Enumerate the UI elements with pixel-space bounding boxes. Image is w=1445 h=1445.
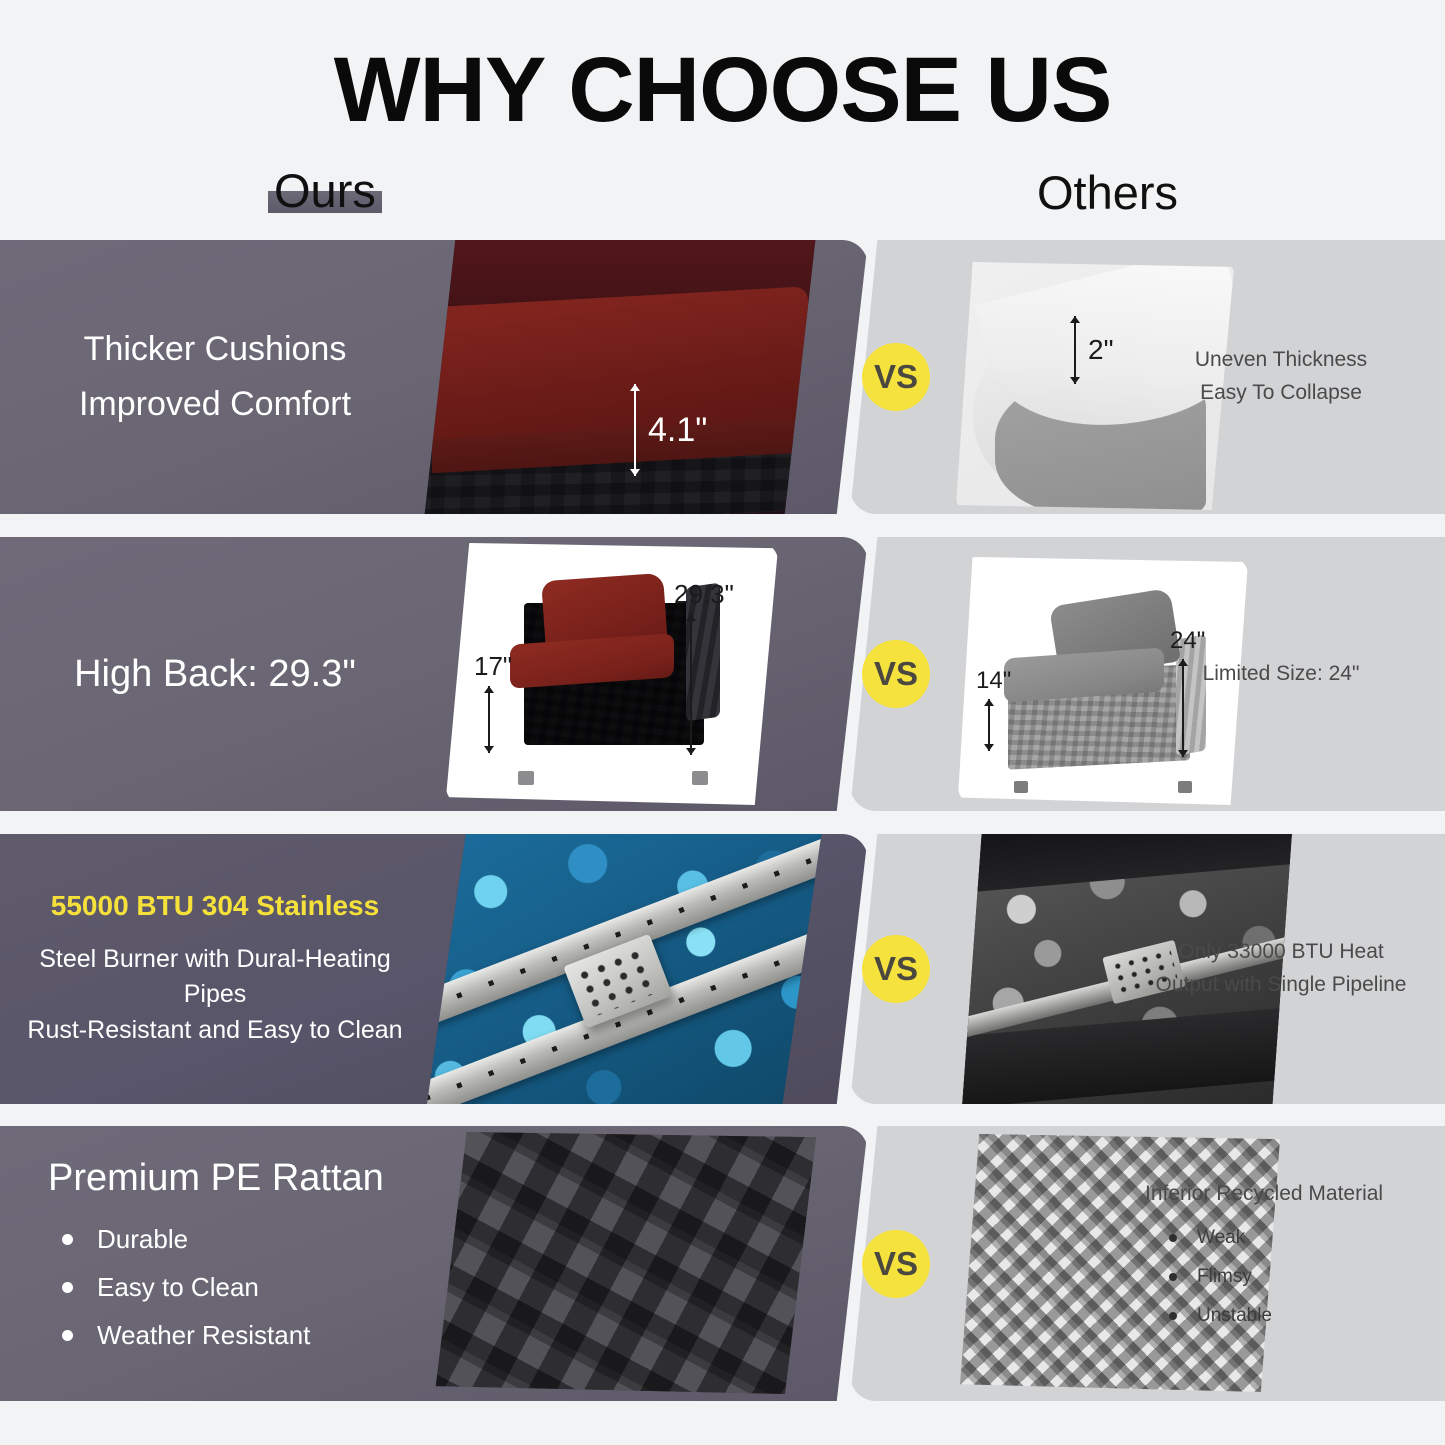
dimension-arrow-icon [634, 384, 636, 476]
comparison-infographic: WHY CHOOSE US Ours Others Thicker Cushio… [0, 0, 1445, 1445]
others-rattan-headline: Inferior Recycled Material [1145, 1182, 1431, 1206]
list-item: Durable [48, 1226, 310, 1252]
ours-cushions-line1: Thicker Cushions [84, 322, 347, 377]
ours-label: Ours [274, 164, 376, 217]
others-text-cushions: Uneven Thickness Easy To Collapse [1131, 240, 1431, 514]
dimension-arrow-icon [488, 686, 490, 753]
list-item: Easy to Clean [48, 1274, 310, 1300]
others-text-high-back: Limited Size: 24" [1131, 537, 1431, 811]
ours-text-rattan: Premium PE Rattan Durable Easy to Clean … [0, 1126, 440, 1401]
ours-panel-burner: 55000 BTU 304 Stainless Steel Burner wit… [0, 834, 868, 1104]
others-seat-height-dimension: 14" [976, 667, 1011, 751]
comparison-row-rattan: Premium PE Rattan Durable Easy to Clean … [0, 1126, 1445, 1401]
list-item: Weak [1145, 1228, 1431, 1247]
others-rattan-bullet-3: Unstable [1197, 1306, 1272, 1325]
others-cushions-line2: Easy To Collapse [1131, 377, 1431, 410]
bullet-dot-icon [62, 1330, 73, 1341]
ours-rattan-bullet-3: Weather Resistant [97, 1322, 310, 1348]
list-item: Flimsy [1145, 1267, 1431, 1286]
others-text-burner: Only 33000 BTU Heat Output with Single P… [1131, 834, 1431, 1104]
sofa-leg-right [692, 771, 708, 785]
cushion-seat-top [424, 286, 808, 439]
ours-column-heading: Ours [268, 166, 382, 215]
sofa-leg-left [1014, 781, 1028, 793]
list-item: Unstable [1145, 1306, 1431, 1325]
ours-seat-height-label: 17" [474, 651, 512, 682]
comparison-row-high-back: High Back: 29.3" 17" 29.3" [0, 537, 1445, 811]
sofa-leg-left [518, 771, 534, 785]
ours-cushions-line2: Improved Comfort [79, 377, 351, 432]
others-column-heading: Others [1037, 168, 1178, 217]
bullet-dot-icon [62, 1282, 73, 1293]
vs-badge-rattan: VS [862, 1230, 930, 1298]
ours-text-burner: 55000 BTU 304 Stainless Steel Burner wit… [0, 834, 430, 1104]
ours-burner-line2: Rust-Resistant and Easy to Clean [27, 1013, 402, 1049]
others-high-back-line1: Limited Size: 24" [1131, 658, 1431, 691]
vs-badge-cushions: VS [862, 343, 930, 411]
others-foam-dimension: 2" [1074, 316, 1114, 384]
others-rattan-bullet-2: Flimsy [1197, 1267, 1252, 1286]
others-panel-rattan: Inferior Recycled Material Weak Flimsy U… [850, 1126, 1445, 1401]
others-seat-height-label: 14" [976, 667, 1011, 695]
ours-rattan-bullet-1: Durable [97, 1226, 188, 1252]
others-text-rattan: Inferior Recycled Material Weak Flimsy U… [1131, 1126, 1431, 1401]
bullet-dot-icon [1169, 1312, 1177, 1320]
ours-panel-high-back: High Back: 29.3" 17" 29.3" [0, 537, 868, 811]
ours-sofa-photo: 17" 29.3" [446, 543, 778, 805]
ours-cushion-dimension-label: 4.1" [648, 411, 707, 450]
others-panel-burner: Only 33000 BTU Heat Output with Single P… [850, 834, 1445, 1104]
others-burner-line2: Output with Single Pipeline [1131, 969, 1431, 1002]
others-rattan-bullet-1: Weak [1197, 1228, 1245, 1247]
others-rattan-bullet-list: Weak Flimsy Unstable [1145, 1228, 1431, 1345]
bullet-dot-icon [1169, 1234, 1177, 1242]
ours-rattan-bullet-list: Durable Easy to Clean Weather Resistant [48, 1226, 310, 1370]
others-cushions-line1: Uneven Thickness [1131, 344, 1431, 377]
ours-cushion-dimension: 4.1" [634, 384, 707, 476]
comparison-row-cushions: Thicker Cushions Improved Comfort 4.1" V… [0, 240, 1445, 514]
ours-firepit-photo [418, 834, 822, 1104]
ours-rattan-bullet-2: Easy to Clean [97, 1274, 259, 1300]
ours-cushion-photo: 4.1" [416, 240, 816, 514]
others-foam-dimension-label: 2" [1088, 334, 1114, 366]
others-panel-high-back: 14" 24" Limited Size: 24" [850, 537, 1445, 811]
bullet-dot-icon [1169, 1273, 1177, 1281]
ours-high-back-headline: High Back: 29.3" [74, 653, 356, 696]
dimension-arrow-icon [690, 614, 692, 755]
ours-burner-line1: Steel Burner with Dural-Heating Pipes [14, 942, 416, 1013]
vs-badge-high-back: VS [862, 640, 930, 708]
ours-panel-cushions: Thicker Cushions Improved Comfort 4.1" [0, 240, 868, 514]
ours-seat-height-dimension: 17" [474, 651, 512, 753]
comparison-row-burner: 55000 BTU 304 Stainless Steel Burner wit… [0, 834, 1445, 1104]
bullet-dot-icon [62, 1234, 73, 1245]
list-item: Weather Resistant [48, 1322, 310, 1348]
dimension-arrow-icon [988, 699, 990, 751]
others-burner-line1: Only 33000 BTU Heat [1131, 936, 1431, 969]
dark-woven-weave [428, 1132, 816, 1394]
column-headings: Ours Others [0, 166, 1445, 236]
dimension-arrow-icon [1074, 316, 1076, 384]
page-title: WHY CHOOSE US [0, 44, 1445, 136]
ours-text-cushions: Thicker Cushions Improved Comfort [0, 240, 430, 514]
others-panel-cushions: 2" Uneven Thickness Easy To Collapse [850, 240, 1445, 514]
ours-rattan-texture-photo [428, 1132, 816, 1394]
ours-text-high-back: High Back: 29.3" [0, 537, 430, 811]
ours-rattan-headline: Premium PE Rattan [48, 1157, 384, 1200]
ours-back-height-label: 29.3" [674, 579, 734, 610]
ours-burner-headline: 55000 BTU 304 Stainless [51, 890, 379, 922]
ours-back-height-dimension: 29.3" [674, 579, 734, 755]
ours-panel-rattan: Premium PE Rattan Durable Easy to Clean … [0, 1126, 868, 1401]
vs-badge-burner: VS [862, 935, 930, 1003]
